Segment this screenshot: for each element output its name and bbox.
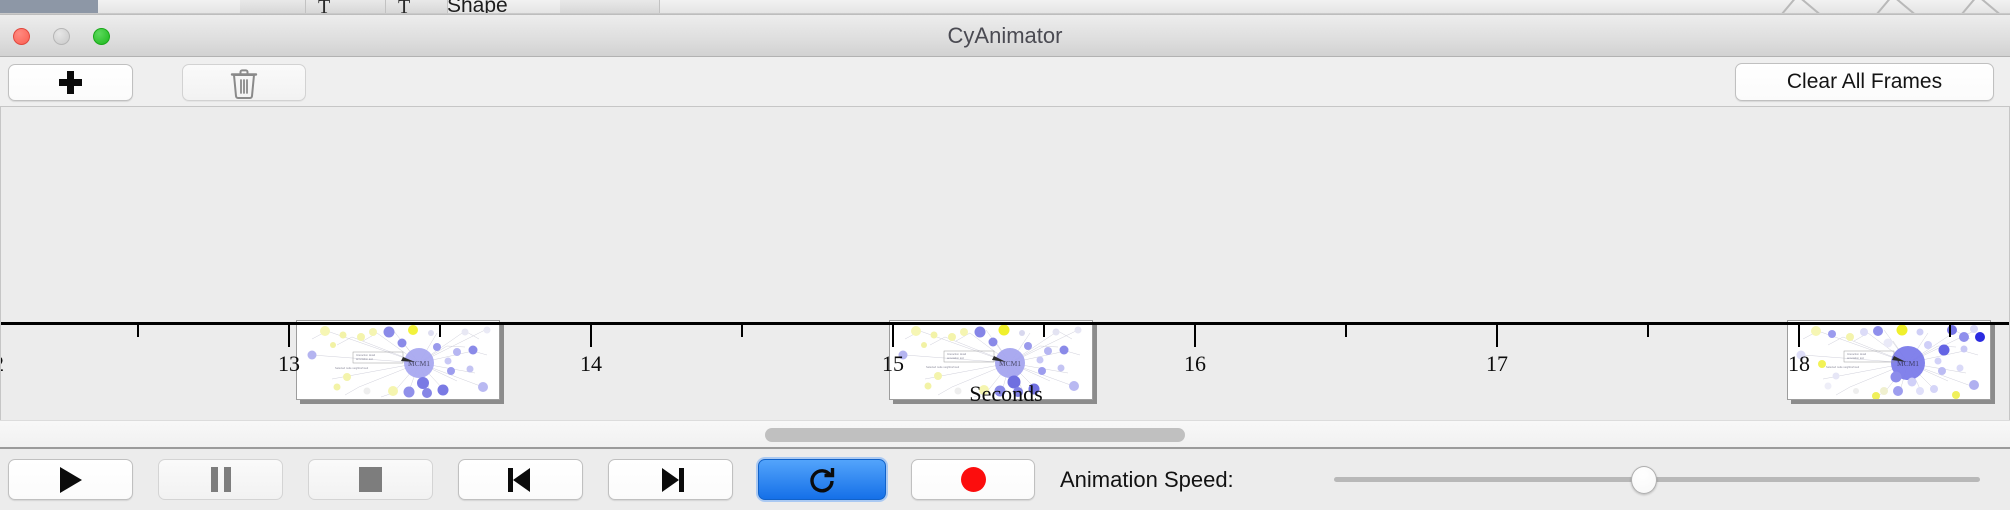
playback-toolbar: Animation Speed: [0,451,2010,510]
axis-tick-major [1194,325,1196,347]
axis-tick-minor [1647,325,1649,337]
pause-button[interactable] [158,459,283,500]
slider-thumb[interactable] [1631,466,1657,494]
record-icon [961,467,986,492]
stop-button[interactable] [308,459,433,500]
loop-toggle-button[interactable] [758,459,886,500]
loop-icon [807,465,837,495]
axis-tick-label: 18 [1788,351,1810,377]
axis-tick-label: 15 [882,351,904,377]
axis-tick-major [1496,325,1498,347]
svg-text:annotation text: annotation text [356,357,373,361]
add-frame-button[interactable] [8,64,133,101]
background-toolbar-chunk [386,0,448,14]
background-shape-label: Shape [447,0,508,14]
background-arc [1781,0,1824,14]
skip-forward-icon [658,467,684,493]
axis-tick-major [288,325,290,347]
hub-node-label: MCM1 [408,359,430,368]
timeline-axis-line [1,322,2010,325]
svg-text:annotation text: annotation text [1847,356,1864,360]
text-tool-glyph: T [398,0,410,14]
axis-tick-minor [1043,325,1045,337]
skip-to-start-button[interactable] [458,459,583,500]
skip-to-end-button[interactable] [608,459,733,500]
svg-text:Interaction detail: Interaction detail [356,353,375,357]
axis-tick-minor [741,325,743,337]
svg-text:Interaction detail: Interaction detail [947,352,966,356]
svg-text:Selected node neighborhood: Selected node neighborhood [335,366,369,370]
text-tool-glyph: T [318,0,330,14]
stop-icon [359,467,382,492]
axis-tick-minor [1949,325,1951,337]
axis-tick-major [1798,325,1800,347]
axis-tick-label: 17 [1486,351,1508,377]
axis-title: Seconds [1,381,2010,407]
cyanimator-window: CyAnimator Clear All Frames [0,14,2010,510]
slider-track [1334,477,1980,482]
animation-speed-slider[interactable] [1334,459,1980,500]
svg-text:annotation text: annotation text [947,356,964,360]
axis-tick-minor [1345,325,1347,337]
animation-speed-label: Animation Speed: [1060,459,1234,500]
axis-tick-minor [137,325,139,337]
svg-text:Selected node neighborhood: Selected node neighborhood [1826,365,1860,369]
background-toolbar-chunk [560,0,660,14]
axis-tick-label: 16 [1184,351,1206,377]
hub-node-label: MCM1 [1897,359,1919,368]
hub-node-label: MCM1 [999,359,1021,368]
delete-frame-button[interactable] [182,64,306,101]
play-icon [60,467,82,493]
scrollbar-thumb[interactable] [765,428,1185,442]
frame-toolbar: Clear All Frames [0,57,2010,107]
axis-tick-label: 14 [580,351,602,377]
trash-icon [229,67,259,99]
background-arc [1961,0,2004,14]
pause-icon [211,467,231,492]
background-arc [1876,0,1919,14]
play-button[interactable] [8,459,133,500]
background-window-strip: T T Shape [0,0,2010,14]
timeline-scrollbar[interactable] [0,420,2010,449]
window-title: CyAnimator [0,15,2010,57]
timeline-panel[interactable]: Interaction detail annotation text Selec… [0,107,2010,420]
record-button[interactable] [911,459,1035,500]
axis-tick-label: 12 [0,351,4,377]
clear-all-frames-button[interactable]: Clear All Frames [1735,63,1994,101]
axis-tick-label: 13 [278,351,300,377]
axis-tick-major [590,325,592,347]
axis-tick-minor [439,325,441,337]
svg-text:Interaction detail: Interaction detail [1847,352,1866,356]
background-toolbar-chunk [240,0,306,14]
clear-all-frames-label: Clear All Frames [1787,70,1942,94]
plus-icon [58,70,83,95]
svg-text:Selected node neighborhood: Selected node neighborhood [926,365,960,369]
title-bar[interactable]: CyAnimator [0,15,2010,57]
background-dark-chunk [0,0,98,13]
skip-back-icon [508,467,534,493]
axis-tick-major [892,325,894,347]
